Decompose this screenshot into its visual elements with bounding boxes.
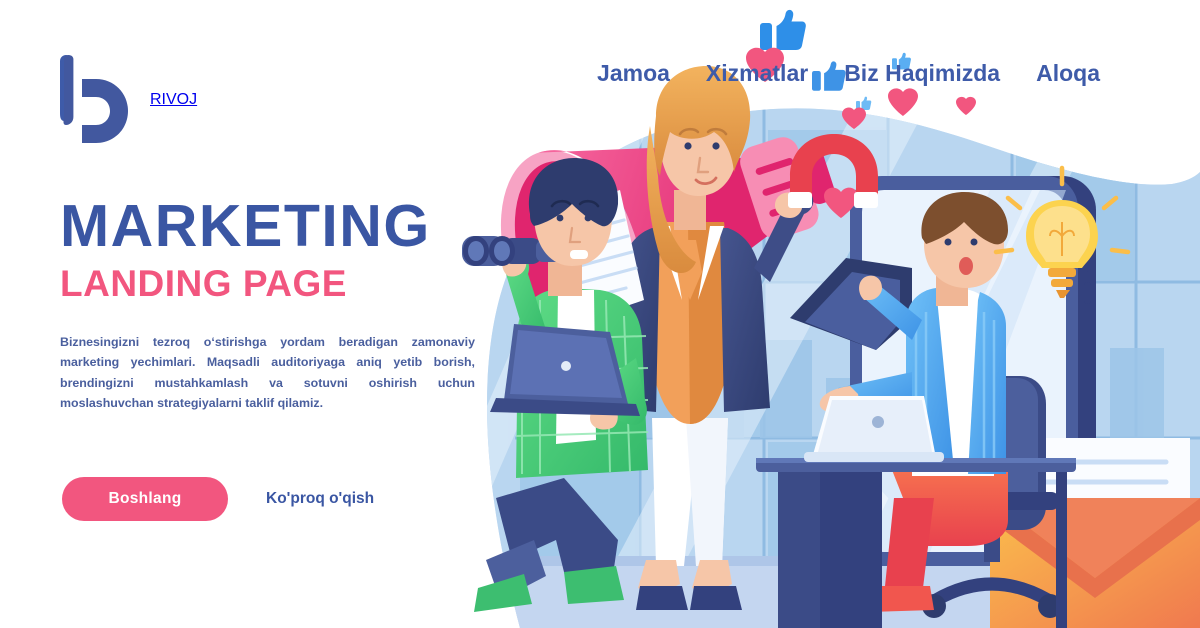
site-header: RIVOJ Jamoa Xizmatlar Biz Haqimizda Aloq…	[0, 0, 1200, 150]
rivoj-b-logo-icon	[56, 55, 134, 145]
nav-item-biz-haqimizda[interactable]: Biz Haqimizda	[844, 60, 1000, 88]
page-subtitle: LANDING PAGE	[60, 264, 480, 305]
brand-logo[interactable]: RIVOJ	[56, 55, 197, 145]
brand-name: RIVOJ	[150, 91, 197, 109]
hero-section: MARKETING LANDING PAGE Biznesingizni tez…	[60, 196, 480, 414]
cta-row: Boshlang Ko'proq o'qish	[62, 477, 374, 521]
page-title: MARKETING	[60, 196, 480, 256]
nav-item-aloqa[interactable]: Aloqa	[1036, 60, 1100, 88]
hero-description: Biznesingizni tezroq o‘stirishga yordam …	[60, 332, 475, 414]
main-navigation: Jamoa Xizmatlar Biz Haqimizda Aloqa	[597, 60, 1100, 88]
nav-item-xizmatlar[interactable]: Xizmatlar	[706, 60, 808, 88]
landing-page: RIVOJ Jamoa Xizmatlar Biz Haqimizda Aloq…	[0, 0, 1200, 628]
get-started-button[interactable]: Boshlang	[62, 477, 228, 521]
nav-item-jamoa[interactable]: Jamoa	[597, 60, 670, 88]
read-more-link[interactable]: Ko'proq o'qish	[266, 490, 374, 508]
